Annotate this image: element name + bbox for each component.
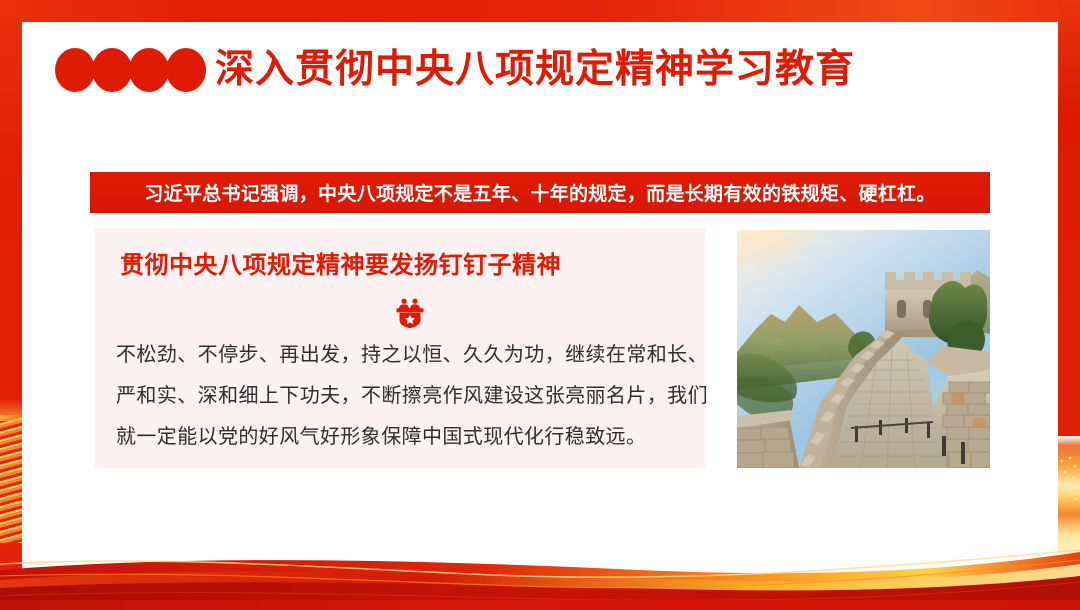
header-dot-icon [55, 48, 95, 92]
header-dot-icon [166, 48, 206, 92]
gold-specks-right-icon [1058, 455, 1080, 505]
slide-root: 深入贯彻中央八项规定精神学习教育 习近平总书记强调，中央八项规定不是五年、十年的… [0, 0, 1080, 610]
frame-top-border [0, 0, 1080, 22]
gold-accent-left [0, 415, 22, 543]
bottom-ribbon-decoration [0, 530, 1080, 610]
content-heading: 贯彻中央八项规定精神要发扬钉钉子精神 [120, 245, 720, 280]
header-dots-decoration [55, 48, 203, 92]
header-dot-icon [129, 48, 169, 92]
quote-banner-text: 习近平总书记强调，中央八项规定不是五年、十年的规定，而是长期有效的铁规矩、硬杠杠… [144, 179, 935, 206]
header-dot-icon [92, 48, 132, 92]
great-wall-photo [737, 230, 990, 468]
quote-banner: 习近平总书记强调，中央八项规定不是五年、十年的规定，而是长期有效的铁规矩、硬杠杠… [90, 172, 990, 213]
frame-bottom-border [0, 600, 1080, 610]
content-body-text: 不松劲、不停步、再出发，持之以恒、久久为功，继续在常和长、严和实、深和细上下功夫… [116, 335, 708, 458]
party-emblem-icon [392, 298, 428, 328]
slide-header: 深入贯彻中央八项规定精神学习教育 [0, 44, 1080, 100]
page-title: 深入贯彻中央八项规定精神学习教育 [215, 44, 855, 96]
